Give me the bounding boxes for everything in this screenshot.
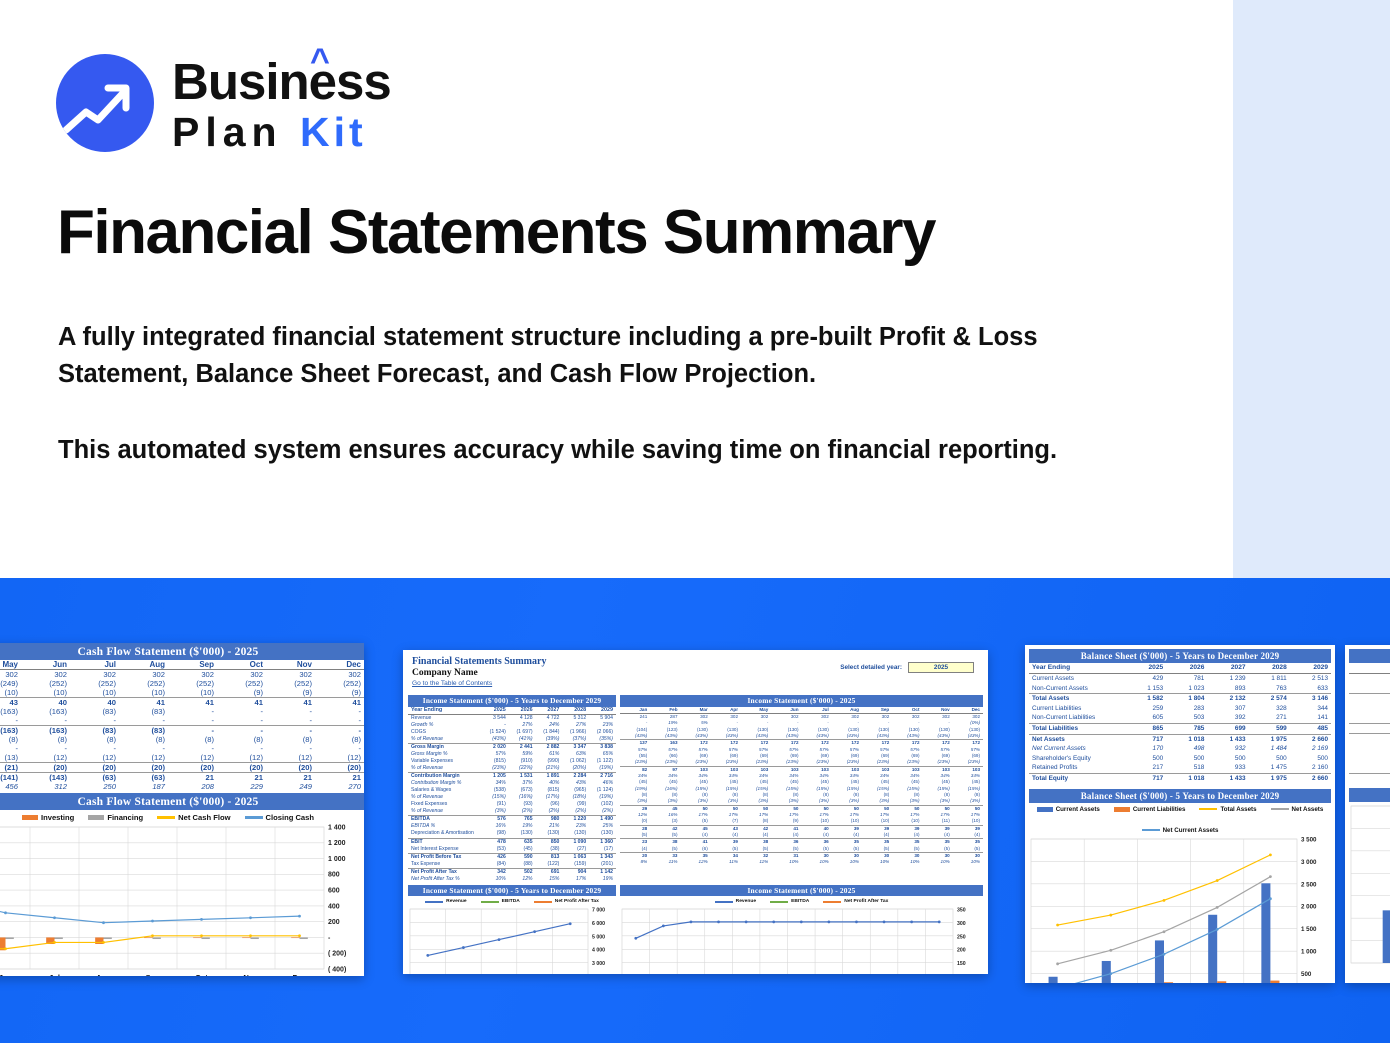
table-cell: (3%) [741,798,771,805]
table-cell: 50 [953,805,983,812]
svg-text:150: 150 [957,961,966,967]
table-row: Net Assets7171 0181 4331 9752 660 [1029,734,1331,744]
table-cell: (5) [923,846,953,853]
table-row: EBITDA %16%19%21%23%25% [408,823,616,830]
table-row: 692 [1349,713,1390,723]
svg-text:800: 800 [328,872,340,879]
table-cell: 4 722 [536,715,563,723]
year-selector[interactable]: Select detailed year: 2025 [840,662,974,673]
table-cell: - [266,716,315,726]
table-cell: 21 [168,773,217,783]
table-row: 8297103103103103103103103103103103 [620,766,983,773]
table-cell: 103 [832,766,862,773]
table-cell: - [119,744,168,753]
balance-sheet-screenshot-card[interactable]: Balance Sheet ($'000) - 5 Years to Decem… [1025,645,1335,983]
table-cell: (23%) [923,759,953,766]
table-cell: (23%) [862,759,892,766]
table-cell: (5) [650,846,680,853]
column-header: 2025 [482,707,509,715]
table-cell: (10) [953,818,983,825]
table-cell: 302 [217,670,266,680]
table-cell: 43% [562,780,589,787]
table-cell: 23% [562,823,589,830]
svg-text:4 000: 4 000 [592,948,605,954]
table-cell: 103 [771,766,801,773]
row-label: Growth % [408,722,482,729]
row-label: Total Assets [1029,694,1125,704]
table-cell: 40 [802,825,832,832]
table-cell: 208 [168,782,217,791]
table-cell: 172 [711,740,741,747]
table-cell: 1 142 [589,868,616,876]
legend-label: Net Assets [1292,806,1324,813]
table-cell: 576 [482,816,509,824]
column-header: Apr [711,707,741,714]
table-row: 93 [1349,703,1390,713]
row-label: Fixed Expenses [408,801,482,808]
table-cell: (20) [21,763,70,773]
table-cell: 1 490 [589,816,616,824]
hero-paragraph-1: A fully integrated financial statement s… [58,319,1133,393]
svg-text:Oct: Oct [195,973,208,976]
table-row: 124 [1349,683,1390,693]
table-row: EBITDA5767659801 2201 490 [408,816,616,824]
table-cell: 21% [536,823,563,830]
table-cell: 12% [681,859,711,865]
table-row: 241287302302302302302302302302302302 [620,714,983,721]
table-cell: (252) [21,679,70,688]
legend-swatch [22,815,38,820]
column-header: 2027 [536,707,563,715]
income-5y-chart-title: Income Statement ($'000) - 5 Years to De… [408,885,616,897]
table-row: (21)(20)(20)(20)(20)(20)(20)(20) [0,763,364,773]
far-chart-title [1349,788,1390,802]
table-cell: 229 [217,782,266,791]
table-cell: 633 [1290,684,1331,694]
table-cell: (23%) [650,759,680,766]
table-cell: (83) [119,726,168,736]
table-cell: (9) [266,688,315,698]
table-cell: 503 [1166,713,1207,723]
table-cell: 35 [892,839,922,846]
table-row: Net Profit Before Tax4265908131 0631 343 [408,853,616,861]
table-cell: (23%) [771,759,801,766]
table-cell: (8) [266,735,315,744]
row-label: % of Revenue [408,808,482,816]
table-cell: 512 [1349,773,1390,783]
table-cell: 2 020 [482,744,509,752]
table-cell: (163) [0,726,21,736]
table-cell: 2 574 [1249,694,1290,704]
svg-text:Sep: Sep [146,973,160,976]
table-cell: 478 [482,838,509,846]
table-cell: 25% [589,823,616,830]
table-cell: (12) [217,753,266,763]
column-header: 2026 [509,707,536,715]
brand-line2: Plan Kit [172,112,391,153]
table-cell: 20 [620,853,650,860]
brand-logo: Business ^ Plan Kit [56,52,391,153]
table-cell: 172 [953,740,983,747]
table-cell: - [266,726,315,736]
table-cell: 40 [21,698,70,708]
table-cell: (41%) [509,736,536,744]
table-row: Current Liabilities259283307328344 [1029,704,1331,714]
table-cell: 57% [482,751,509,758]
table-cell: (84) [482,861,509,869]
table-cell: (201) [589,861,616,869]
table-row: % of Revenue(3%)(2%)(2%)(2%)(2%) [408,808,616,816]
table-cell: 302 [266,670,315,680]
legend-swatch [1037,807,1053,812]
table-cell: (20) [217,763,266,773]
table-row: Retained Profits2175189331 4752 160 [1029,763,1331,773]
table-cell: (21) [0,763,21,773]
column-header: Jan [620,707,650,714]
table-header-row: MayJunJulAugSepOctNovDec [0,660,364,670]
table-cell: (1 844) [536,729,563,736]
income-monthly-table: JanFebMarAprMayJunJulAugSepOctNovDec2412… [620,707,983,866]
income-5y-title: Income Statement ($'000) - 5 Years to De… [408,695,616,707]
table-cell: (43%) [862,733,892,740]
table-cell: (5) [832,846,862,853]
table-cell: 426 [482,853,509,861]
balance-sheet-chart: 3 5003 0002 5002 0001 5001 000500-202520… [1029,835,1331,983]
table-cell: (43%) [711,733,741,740]
table-cell: 271 [1249,713,1290,723]
table-cell: 63% [562,751,589,758]
legend-label: Financing [107,813,143,822]
table-of-contents-link[interactable]: Go to the Table of Contents [403,678,988,687]
table-cell: (130) [562,830,589,838]
table-cell: (12) [266,753,315,763]
table-cell: (3%) [923,798,953,805]
legend-item: Net Profit After Tax [823,899,888,904]
table-cell: - [21,744,70,753]
row-label: Gross Margin % [408,751,482,758]
table-cell: 342 [482,868,509,876]
table-cell: (9) [217,688,266,698]
table-cell: 39 [923,825,953,832]
table-cell: (5) [741,846,771,853]
table-cell: (673) [509,787,536,794]
table-cell: (63) [70,773,119,783]
table-cell: 717 [1125,734,1166,744]
table-cell: 103 [923,766,953,773]
summary-screenshot-card[interactable]: Financial Statements Summary Company Nam… [403,650,988,974]
column-header: Aug [119,660,168,670]
legend-item: Net Profit After Tax [534,899,599,904]
legend-swatch [88,815,104,820]
table-cell: (23%) [620,759,650,766]
table-row: COGS(1 524)(1 697)(1 844)(1 966)(2 066) [408,729,616,736]
table-cell: 30 [832,853,862,860]
table-cell: (17%) [536,794,563,801]
svg-text:400: 400 [328,903,340,910]
table-cell: 41 [315,698,364,708]
table-cell: (35%) [589,736,616,744]
table-cell: 429 [1125,673,1166,683]
table-cell: (990) [536,758,563,765]
table-cell: 3 347 [562,744,589,752]
table-cell: (252) [217,679,266,688]
table-row: 1 081 [1349,744,1390,754]
table-cell: - [119,716,168,726]
legend-swatch [1271,808,1289,811]
table-header-row: Year Ending20252026202720282029 [408,707,616,715]
table-cell: 500 [1125,754,1166,764]
table-cell: 23% [589,722,616,729]
table-cell: (1 122) [589,758,616,765]
table-cell: (43%) [923,733,953,740]
legend-item: Revenue [715,899,756,904]
table-cell: 1 081 [1349,744,1390,754]
column-header: May [741,707,771,714]
table-cell: (13) [0,753,21,763]
table-cell: (252) [315,679,364,688]
table-cell: (11) [923,818,953,825]
table-cell: 172 [741,740,771,747]
year-selector-input[interactable]: 2025 [908,662,974,673]
table-cell: (3%) [832,798,862,805]
svg-text:Jul: Jul [49,973,60,976]
legend-item: Revenue [425,899,466,904]
svg-text:Dec: Dec [293,973,307,976]
table-cell: (12) [315,753,364,763]
table-cell: 500 [1290,754,1331,764]
table-cell: (43%) [832,733,862,740]
svg-text:250: 250 [957,935,966,941]
row-label: Net Profit After Tax % [408,876,482,883]
table-cell: 172 [892,740,922,747]
income-monthly-chart: 35030025020015010050-JanFebMarAprMayJunJ… [620,905,983,974]
table-cell: 933 [1207,763,1248,773]
table-cell: (23%) [711,759,741,766]
table-cell: (43%) [771,733,801,740]
column-header: Year Ending [1029,663,1125,673]
table-cell: 302 [315,670,364,680]
table-cell: 10% [832,859,862,865]
table-cell: (163) [21,707,70,716]
svg-text:5 000: 5 000 [592,935,605,941]
table-cell: 10% [482,876,509,883]
table-row: (249)(252)(252)(252)(252)(252)(252)(252) [0,679,364,688]
table-cell: (1 062) [562,758,589,765]
table-cell: 170 [1125,744,1166,754]
table-cell: (4) [862,832,892,839]
table-cell: 45 [681,825,711,832]
table-cell: 2 660 [1290,734,1331,744]
table-cell: 39 [953,825,983,832]
table-row: (13)(12)(12)(12)(12)(12)(12)(12) [0,753,364,763]
table-row: Fixed Expenses(91)(93)(96)(99)(102) [408,801,616,808]
table-cell: (141) [0,773,21,783]
legend-label: Revenue [446,899,466,904]
table-cell: 39 [832,825,862,832]
row-label: Gross Margin [408,744,482,752]
table-cell: - [315,707,364,716]
table-row: Net Profit After Tax3425026919041 142 [408,868,616,876]
table-cell: (5) [862,846,892,853]
table-cell: 392 [1207,713,1248,723]
table-row: Non-Current Liabilities605503392271141 [1029,713,1331,723]
row-label: Net Profit After Tax [408,868,482,876]
legend-item: Net Assets [1271,806,1324,813]
table-row: (23%)(23%)(23%)(23%)(23%)(23%)(23%)(23%)… [620,759,983,766]
income-monthly-chart-legend: RevenueEBITDANet Profit After Tax [620,896,983,905]
table-cell: (20) [266,763,315,773]
table-cell: (43%) [953,733,983,740]
table-cell: 30 [923,853,953,860]
cashflow-screenshot-card[interactable]: Cash Flow Statement ($'000) - 2025 MayJu… [0,643,364,976]
legend-item: EBITDA [481,899,520,904]
row-label: Net Interest Expense [408,846,482,854]
cashflow-chart-title: Cash Flow Statement ($'000) - 2025 [0,793,364,810]
svg-text:1 200: 1 200 [328,840,346,847]
svg-text:7 000: 7 000 [592,908,605,914]
table-cell: 904 [562,868,589,876]
table-cell: 172 [923,740,953,747]
table-cell: (43%) [741,733,771,740]
brand-line1-text: Business [172,53,391,110]
table-cell: 10% [892,859,922,865]
table-cell: 50 [923,805,953,812]
column-header: Nov [923,707,953,714]
balance-sheet-table: Year Ending20252026202720282029Current A… [1029,663,1331,784]
table-cell: 250 [70,782,119,791]
column-header: Feb [650,707,680,714]
table-cell: 763 [1249,684,1290,694]
table-cell: 259 [1125,704,1166,714]
table-cell: 50 [892,805,922,812]
table-cell: (4) [802,832,832,839]
column-header: Year Ending [408,707,482,715]
row-label: EBITDA [408,816,482,824]
table-cell: 43 [0,698,21,708]
table-cell: 4 128 [509,715,536,723]
table-cell: (98) [482,830,509,838]
table-cell: (815) [482,758,509,765]
table-cell: (163) [0,707,21,716]
table-cell: (4) [923,832,953,839]
table-cell: 41 [681,839,711,846]
table-cell: (0) [620,818,650,825]
column-header: May [0,660,21,670]
table-cell: (965) [562,787,589,794]
table-cell: - [168,707,217,716]
table-cell: 38 [741,839,771,846]
legend-swatch [1199,808,1217,811]
svg-text:Jun: Jun [0,973,13,976]
table-cell: (4) [953,832,983,839]
table-cell: 302 [832,714,862,721]
table-row: 302302302302302302302302 [0,670,364,680]
table-row: Current Assets4297811 2391 8112 513 [1029,673,1331,683]
table-row: % of Revenue(23%)(22%)(21%)(20%)(19%) [408,765,616,773]
table-header-row: Year Ending20252026202720282029 [1029,663,1331,673]
table-cell: 32 [741,853,771,860]
table-cell: - [266,744,315,753]
table-cell: (10) [168,688,217,698]
table-cell: 40 [70,698,119,708]
table-cell: 302 [741,714,771,721]
table-cell: (1 697) [509,729,536,736]
table-row: (4)(5)(6)(5)(5)(5)(5)(5)(5)(5)(5)(5) [620,846,983,853]
table-cell: (12) [119,753,168,763]
table-cell: 500 [1166,754,1207,764]
table-cell: 1 975 [1249,734,1290,744]
table-cell: (3%) [802,798,832,805]
table-row: % of Revenue(15%)(16%)(17%)(18%)(19%) [408,794,616,801]
table-cell: 35 [923,839,953,846]
table-cell: 42 [650,825,680,832]
table-cell: 1 975 [1249,773,1290,783]
table-cell: (20) [168,763,217,773]
table-cell: (143) [21,773,70,783]
table-cell: 15% [536,876,563,883]
cashflow-table-title: Cash Flow Statement ($'000) - 2025 [0,643,364,660]
table-cell: 103 [741,766,771,773]
row-label: Current Assets [1029,673,1125,683]
table-cell: 50 [832,805,862,812]
table-cell: 1 582 [1125,694,1166,704]
table-cell: 40% [536,780,563,787]
hero-paragraph-2: This automated system ensures accuracy w… [58,432,1133,469]
far-month-table: Jan1 1741241 297936927865121 08150012512 [1349,663,1390,783]
table-cell: (38) [536,846,563,854]
table-cell: (3%) [862,798,892,805]
table-cell: (252) [119,679,168,688]
legend-swatch [715,901,733,904]
table-cell: 1 153 [1125,684,1166,694]
svg-text:3 500: 3 500 [1301,836,1317,843]
row-label: Variable Expenses [408,758,482,765]
slide-root: Business ^ Plan Kit Financial Statements… [0,0,1390,1043]
table-cell: (20) [70,763,119,773]
table-cell: 41 [217,698,266,708]
table-cell: 37% [509,780,536,787]
table-cell: (159) [562,861,589,869]
table-cell: (249) [0,679,21,688]
table-cell: 30 [862,853,892,860]
balance-sheet-monthly-card[interactable]: Jan1 1741241 297936927865121 08150012512… [1345,645,1390,983]
table-cell: 3 544 [482,715,509,723]
table-cell: (3%) [650,798,680,805]
row-label: Shareholder's Equity [1029,754,1125,764]
table-row: Growth %-27%24%27%23% [408,722,616,729]
table-row: EBIT4786358501 0901 360 [408,838,616,846]
table-cell: 8% [620,859,650,865]
table-cell: 21 [217,773,266,783]
table-cell: 61% [536,751,563,758]
table-cell: 518 [1166,763,1207,773]
table-cell: (37%) [562,736,589,744]
table-cell: - [0,716,21,726]
page-title: Financial Statements Summary [57,200,1177,265]
svg-text:500: 500 [1301,971,1312,978]
column-header: 2029 [1290,663,1331,673]
table-cell: (102) [589,801,616,808]
legend-swatch [823,901,841,904]
table-cell: 30 [802,853,832,860]
table-cell: (5) [953,846,983,853]
table-cell: 2 716 [589,773,616,781]
svg-text:600: 600 [328,888,340,895]
table-cell: (83) [70,707,119,716]
table-row: (163)(163)(83)(83)---- [0,726,364,736]
table-cell: (2%) [509,808,536,816]
table-cell: (10) [21,688,70,698]
